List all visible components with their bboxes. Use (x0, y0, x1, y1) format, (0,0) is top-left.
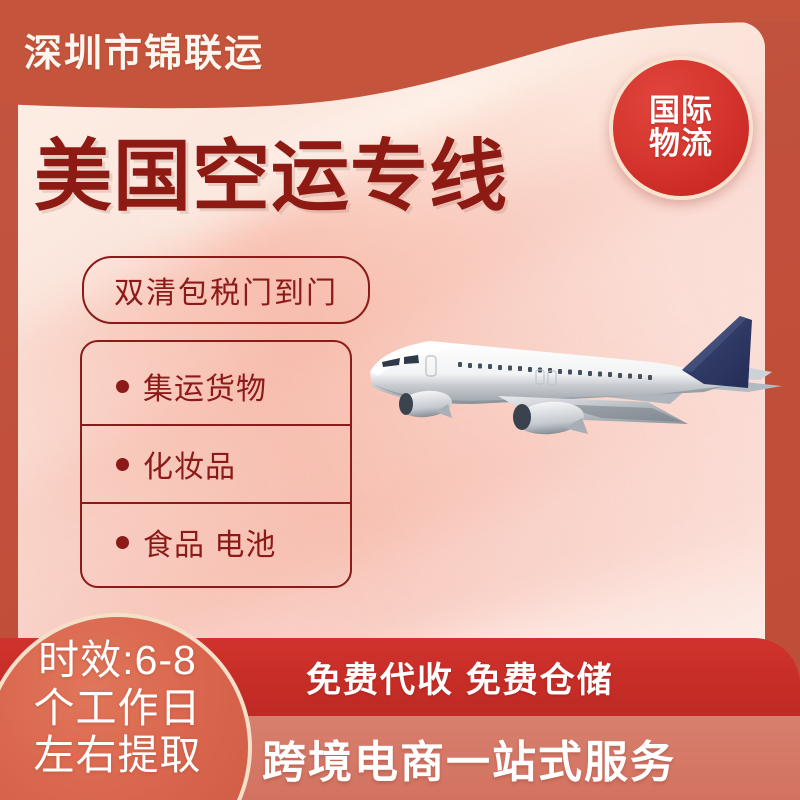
list-item: 集运货物 (82, 348, 350, 424)
list-item: 食品 电池 (82, 502, 350, 580)
banner-free-services-text: 免费代收 免费仓储 (306, 652, 614, 703)
badge-international-line1: 国际 (649, 95, 713, 128)
brand-name: 深圳市锦联运 (24, 22, 264, 77)
badge-international-line2: 物流 (649, 128, 713, 161)
bullet-icon (116, 458, 129, 471)
page-title: 美国空运专线 (34, 114, 508, 226)
list-item: 化妆品 (82, 424, 350, 502)
airplane-icon (352, 300, 792, 465)
badge-lead-time-line1: 时效:6-8 (38, 637, 197, 685)
feature-list: 集运货物 化妆品 食品 电池 (80, 340, 352, 588)
bullet-icon (116, 380, 129, 393)
feature-label: 化妆品 (143, 442, 236, 486)
feature-label: 食品 电池 (143, 520, 276, 564)
poster-root: 深圳市锦联运 国际 物流 美国空运专线 双清包税门到门 (0, 0, 800, 800)
badge-lead-time-line3: 左右提取 (34, 732, 202, 780)
tag-door-to-door: 双清包税门到门 (82, 256, 370, 324)
badge-lead-time-line2: 个工作日 (34, 685, 202, 733)
bullet-icon (116, 536, 129, 549)
badge-international-logistics: 国际 物流 (609, 56, 753, 200)
feature-label: 集运货物 (143, 364, 267, 408)
banner-tagline-text: 跨境电商一站式服务 (262, 726, 676, 790)
